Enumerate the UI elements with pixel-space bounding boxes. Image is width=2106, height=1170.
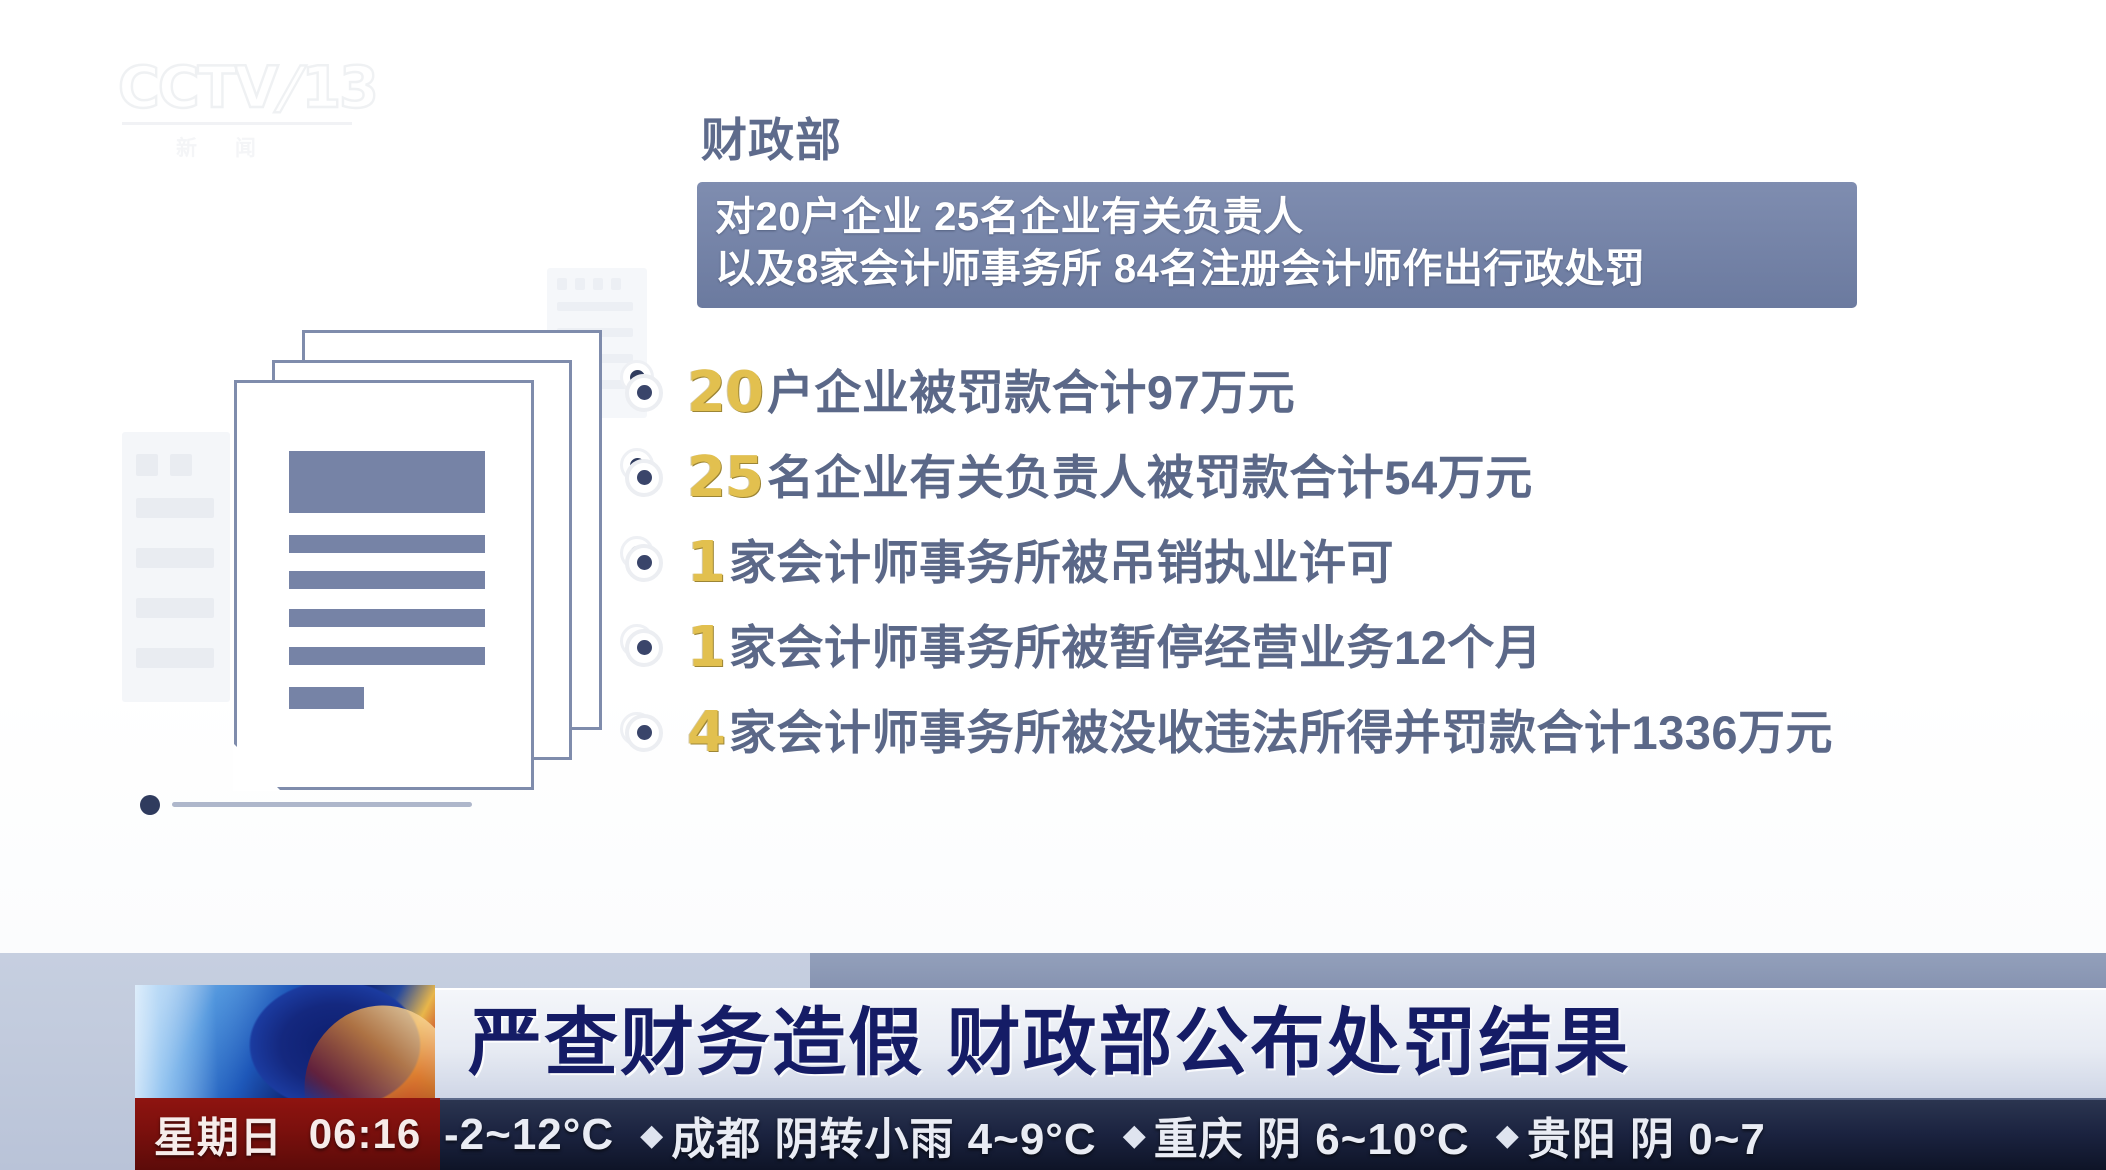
document-stack-illustration xyxy=(112,262,672,822)
ghost-panel-left xyxy=(122,432,230,702)
doc-title-bar xyxy=(289,451,485,513)
list-item-number: 1 xyxy=(687,619,725,677)
list-item-label: 家会计师事务所被没收违法所得并罚款合计1336万元 xyxy=(729,704,1833,762)
list-item-number: 1 xyxy=(687,534,725,592)
diamond-icon: ◆ xyxy=(1496,1118,1519,1153)
logo-text-cctv: CCTV xyxy=(118,55,277,121)
list-item: 1 家会计师事务所被吊销执业许可 xyxy=(625,520,2045,605)
ticker-weather-item: 成都 阴转小雨 4~9°C xyxy=(671,1103,1096,1167)
ticker-clock: 星期日 06:16 xyxy=(135,1098,440,1170)
cctv-globe-icon xyxy=(135,985,435,1100)
news-headline: 严查财务造假 财政部公布处罚结果 xyxy=(468,988,1631,1098)
doc-text-line xyxy=(289,647,485,665)
ticker-time: 06:16 xyxy=(309,1110,421,1158)
doc-text-line xyxy=(289,571,485,589)
penalty-list: 20 户企业被罚款合计97万元 25 名企业有关负责人被罚款合计54万元 1 家… xyxy=(625,350,2045,775)
list-item-label: 家会计师事务所被吊销执业许可 xyxy=(729,534,1394,592)
list-item-label: 家会计师事务所被暂停经营业务12个月 xyxy=(729,619,1542,677)
list-item-label: 名企业有关负责人被罚款合计54万元 xyxy=(767,449,1533,507)
headline-block: 财政部 对20户企业 25名企业有关负责人 以及8家会计师事务所 84名注册会计… xyxy=(697,112,1857,308)
bullet-dot-icon xyxy=(625,374,663,412)
doc-text-line-short xyxy=(289,687,364,709)
content-stage: CCTV/13 新 闻 xyxy=(0,0,2106,953)
ticker-weather-item: -2~12°C xyxy=(444,1110,614,1160)
list-item-number: 25 xyxy=(687,449,763,507)
ticker-weather-item: 重庆 阴 6~10°C xyxy=(1154,1103,1470,1167)
list-item-number: 20 xyxy=(687,364,763,422)
logo-number: 13 xyxy=(302,55,377,121)
doc-text-line xyxy=(289,609,485,627)
bullet-dot-icon xyxy=(625,629,663,667)
doc-text-line xyxy=(289,535,485,553)
ticker-weather-item: 贵阳 阴 0~7 xyxy=(1527,1103,1766,1167)
document-sheet-front xyxy=(234,380,534,790)
banner-line-2: 以及8家会计师事务所 84名注册会计师作出行政处罚 xyxy=(715,243,1841,295)
lower-third-accent-strip xyxy=(810,953,2106,993)
cctv13-logo: CCTV/13 新 闻 xyxy=(118,58,408,170)
baseline-dot xyxy=(140,795,160,815)
news-ticker: 星期日 06:16 -2~12°C ◆ 成都 阴转小雨 4~9°C ◆ 重庆 阴… xyxy=(0,1098,2106,1170)
logo-rule xyxy=(122,122,352,125)
list-item: 25 名企业有关负责人被罚款合计54万元 xyxy=(625,435,2045,520)
summary-banner: 对20户企业 25名企业有关负责人 以及8家会计师事务所 84名注册会计师作出行… xyxy=(697,182,1857,308)
diamond-icon: ◆ xyxy=(640,1118,663,1153)
banner-line-1: 对20户企业 25名企业有关负责人 xyxy=(715,191,1841,243)
list-item: 20 户企业被罚款合计97万元 xyxy=(625,350,2045,435)
bullet-dot-icon xyxy=(625,714,663,752)
logo-wordmark: CCTV/13 xyxy=(118,58,408,118)
logo-subtitle: 新 闻 xyxy=(176,132,408,162)
list-item: 1 家会计师事务所被暂停经营业务12个月 xyxy=(625,605,2045,690)
bullet-dot-icon xyxy=(625,459,663,497)
department-title: 财政部 xyxy=(701,112,1857,168)
baseline-rule xyxy=(172,802,472,807)
page-fold-corner xyxy=(233,743,281,791)
ticker-weekday: 星期日 xyxy=(154,1104,283,1165)
list-item-label: 户企业被罚款合计97万元 xyxy=(767,364,1295,422)
list-item: 4 家会计师事务所被没收违法所得并罚款合计1336万元 xyxy=(625,690,2045,775)
diamond-icon: ◆ xyxy=(1123,1118,1146,1153)
broadcast-screen: CCTV/13 新 闻 xyxy=(0,0,2106,1170)
ticker-weather-strip[interactable]: -2~12°C ◆ 成都 阴转小雨 4~9°C ◆ 重庆 阴 6~10°C ◆ … xyxy=(440,1098,2106,1170)
bullet-dot-icon xyxy=(625,544,663,582)
list-item-number: 4 xyxy=(687,704,725,762)
